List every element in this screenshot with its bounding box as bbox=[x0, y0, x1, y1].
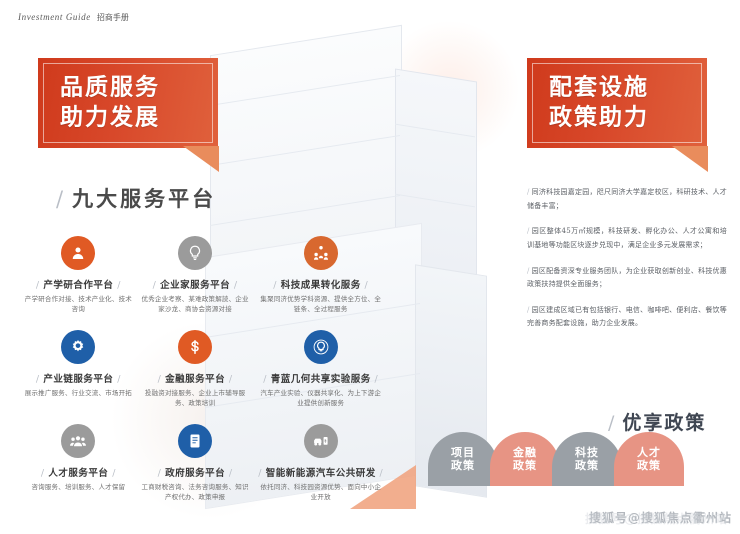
service-item-desc: 集聚同济优势学科资源、提供全方位、全链条、全过程服务 bbox=[257, 294, 384, 314]
ev-charging-car-icon bbox=[304, 424, 338, 458]
pill-line-1: 金融 bbox=[513, 446, 537, 459]
bullet-slash: / bbox=[527, 306, 530, 314]
service-item-chanyelian[interactable]: / 产业链服务平台 / 展示推广服务、行业交流、市场开拓 bbox=[24, 330, 133, 408]
service-item-desc: 优秀企业考察、某难政策解読、企业家沙龙、商协会资源对接 bbox=[141, 294, 250, 314]
facility-item-text: 园区建成区域已有包括银行、电信、咖啡吧、便利店、餐饮等完善商务配套设施，助力企业… bbox=[527, 306, 727, 328]
policy-title-text: 优享政策 bbox=[622, 412, 706, 434]
pill-line-2: 政策 bbox=[637, 459, 661, 472]
people-network-icon bbox=[304, 236, 338, 270]
service-item-desc: 投融资对接服务、企业上市辅导服务、政策培训 bbox=[141, 388, 250, 408]
service-item-rencai[interactable]: / 人才服务平台 / 咨询服务、培训服务、人才保留 bbox=[24, 424, 133, 502]
document-header: Investment Guide招商手册 bbox=[18, 12, 129, 23]
bullet-slash: / bbox=[527, 267, 530, 275]
facility-item: /园区建成区域已有包括银行、电信、咖啡吧、便利店、餐饮等完善商务配套设施，助力企… bbox=[527, 304, 727, 331]
service-item-name: / 科技成果转化服务 / bbox=[257, 277, 384, 291]
policy-section-title: /优享政策 bbox=[608, 408, 706, 435]
policy-pill-technology[interactable]: 科技 政策 bbox=[552, 432, 622, 486]
service-item-name: / 智能新能源汽车公共研发 / bbox=[257, 465, 384, 479]
service-item-desc: 汽车产业实验、仪器共享化、为上下游企业提供创新服务 bbox=[257, 388, 384, 408]
platforms-section-title: /九大服务平台 bbox=[56, 183, 216, 213]
building-line bbox=[210, 135, 400, 166]
platforms-title-text: 九大服务平台 bbox=[72, 186, 216, 211]
dollar-finance-icon bbox=[178, 330, 212, 364]
left-banner: 品质服务 助力发展 bbox=[38, 58, 218, 148]
facility-item: /园区配备资深专业服务团队，为企业获取创新创业、科技优惠政策扶持提供全面服务； bbox=[527, 265, 727, 292]
service-row: / 产学研合作平台 / 产学研合作对接、技术产业化、技术咨询 / 企业家服务平台… bbox=[24, 236, 384, 314]
pill-line-2: 政策 bbox=[575, 459, 599, 472]
service-item-desc: 咨询服务、培训服务、人才保留 bbox=[24, 482, 133, 492]
right-banner-text: 配套设施 政策助力 bbox=[549, 73, 649, 134]
service-item-chanxueyan[interactable]: / 产学研合作平台 / 产学研合作对接、技术产业化、技术咨询 bbox=[24, 236, 133, 314]
facility-item-text: 园区配备资深专业服务团队，为企业获取创新创业、科技优惠政策扶持提供全面服务； bbox=[527, 267, 727, 289]
service-item-name: / 产业链服务平台 / bbox=[24, 371, 133, 385]
document-file-icon bbox=[178, 424, 212, 458]
pill-line-2: 政策 bbox=[451, 459, 475, 472]
facility-list: /同济科技园嘉定园，咫尺同济大学嘉定校区，科研技术、人才储备丰富； /园区整体4… bbox=[527, 186, 727, 343]
facility-item: /同济科技园嘉定园，咫尺同济大学嘉定校区，科研技术、人才储备丰富； bbox=[527, 186, 727, 213]
right-banner-fold bbox=[672, 146, 708, 172]
building-line bbox=[395, 124, 475, 138]
service-item-desc: 展示推广服务、行业交流、市场开拓 bbox=[24, 388, 133, 398]
poster-page: Investment Guide招商手册 品质服务 助力发展 配套设施 政策助力… bbox=[0, 0, 740, 534]
service-item-name: / 产学研合作平台 / bbox=[24, 277, 133, 291]
right-banner: 配套设施 政策助力 bbox=[527, 58, 707, 148]
policy-pill-talent[interactable]: 人才 政策 bbox=[614, 432, 684, 486]
building-face-right bbox=[395, 69, 477, 414]
service-item-desc: 工商财税咨询、法务咨询服务、知识产权代办、政策申报 bbox=[141, 482, 250, 502]
person-user-icon bbox=[61, 236, 95, 270]
service-item-name: / 人才服务平台 / bbox=[24, 465, 133, 479]
people-talent-icon bbox=[61, 424, 95, 458]
document-header-cn: 招商手册 bbox=[97, 13, 129, 22]
service-platform-grid: / 产学研合作平台 / 产学研合作对接、技术产业化、技术咨询 / 企业家服务平台… bbox=[24, 236, 384, 518]
service-item-desc: 产学研合作对接、技术产业化、技术咨询 bbox=[24, 294, 133, 314]
facility-item-text: 园区整体45万㎡规模，科技研发、孵化办公、人才公寓和培训基地等功能区块逐步兑现中… bbox=[527, 227, 727, 249]
policy-pill-project[interactable]: 项目 政策 bbox=[428, 432, 498, 486]
service-item-jinrong[interactable]: / 金融服务平台 / 投融资对接服务、企业上市辅导服务、政策培训 bbox=[141, 330, 250, 408]
document-header-en: Investment Guide bbox=[18, 12, 91, 22]
service-item-desc: 依托同济、科技园资源优势、面向中小企业开放 bbox=[257, 482, 384, 502]
service-item-xinnengyuan[interactable]: / 智能新能源汽车公共研发 / 依托同济、科技园资源优势、面向中小企业开放 bbox=[257, 424, 384, 502]
pill-line-1: 科技 bbox=[575, 446, 599, 459]
bullet-slash: / bbox=[527, 227, 530, 235]
building-line bbox=[395, 194, 475, 208]
title-slash: / bbox=[56, 187, 66, 211]
service-item-qiyejia[interactable]: / 企业家服务平台 / 优秀企业考察、某难政策解読、企业家沙龙、商协会资源对接 bbox=[141, 236, 250, 314]
left-banner-text: 品质服务 助力发展 bbox=[60, 73, 160, 134]
facility-item: /园区整体45万㎡规模，科技研发、孵化办公、人才公寓和培训基地等功能区块逐步兑现… bbox=[527, 225, 727, 252]
building-line bbox=[210, 195, 400, 226]
service-item-name: / 青蓝几何共享实验服务 / bbox=[257, 371, 384, 385]
service-item-zhengfu[interactable]: / 政府服务平台 / 工商财税咨询、法务咨询服务、知识产权代办、政策申报 bbox=[141, 424, 250, 502]
shared-lab-bulb-icon bbox=[304, 330, 338, 364]
pill-line-1: 项目 bbox=[451, 446, 475, 459]
service-item-name: / 政府服务平台 / bbox=[141, 465, 250, 479]
service-row: / 产业链服务平台 / 展示推广服务、行业交流、市场开拓 / 金融服务平台 / … bbox=[24, 330, 384, 408]
service-item-name: / 金融服务平台 / bbox=[141, 371, 250, 385]
service-item-kejichengguo[interactable]: / 科技成果转化服务 / 集聚同济优势学科资源、提供全方位、全链条、全过程服务 bbox=[257, 236, 384, 314]
gear-settings-icon bbox=[61, 330, 95, 364]
facility-item-text: 同济科技园嘉定园，咫尺同济大学嘉定校区，科研技术、人才储备丰富； bbox=[527, 188, 727, 210]
watermark-ghost: 搜狐号@搜狐焦点衢州站 bbox=[585, 510, 728, 527]
decorative-glow-top bbox=[380, 20, 520, 160]
left-banner-fold bbox=[183, 146, 219, 172]
service-item-name: / 企业家服务平台 / bbox=[141, 277, 250, 291]
pill-line-1: 人才 bbox=[637, 446, 661, 459]
bullet-slash: / bbox=[527, 188, 530, 196]
service-item-qinglan[interactable]: / 青蓝几何共享实验服务 / 汽车产业实验、仪器共享化、为上下游企业提供创新服务 bbox=[257, 330, 384, 408]
watermark: 搜狐号@搜狐焦点衢州站 搜狐号@搜狐焦点衢州站 bbox=[589, 509, 732, 526]
lightbulb-idea-icon bbox=[178, 236, 212, 270]
policy-pill-finance[interactable]: 金融 政策 bbox=[490, 432, 560, 486]
pill-line-2: 政策 bbox=[513, 459, 537, 472]
title-slash: / bbox=[608, 412, 616, 434]
building-line bbox=[210, 75, 400, 106]
policy-pill-group: 项目 政策 金融 政策 科技 政策 人才 政策 bbox=[428, 432, 676, 486]
service-row: / 人才服务平台 / 咨询服务、培训服务、人才保留 / 政府服务平台 / 工商财… bbox=[24, 424, 384, 502]
